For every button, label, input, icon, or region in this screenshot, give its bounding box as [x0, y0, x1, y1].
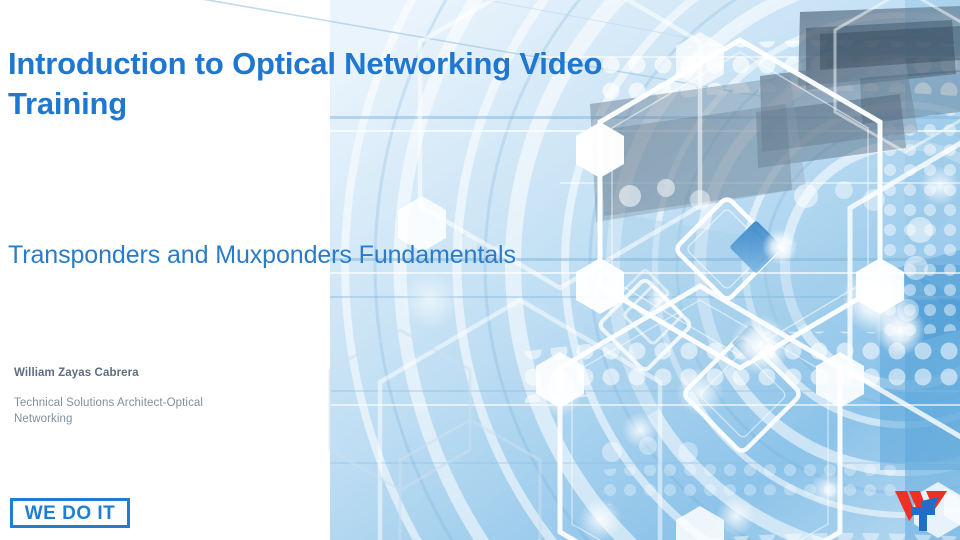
page-title: Introduction to Optical Networking Video…: [8, 44, 708, 124]
presenter-name: William Zayas Cabrera: [14, 365, 284, 381]
wt-logo: [893, 487, 949, 533]
presenter-block: William Zayas Cabrera Technical Solution…: [14, 365, 284, 427]
slide-subtitle: Transponders and Muxponders Fundamentals: [8, 240, 648, 270]
we-do-it-badge: WE DO IT: [10, 498, 130, 528]
presentation-slide: Introduction to Optical Networking Video…: [0, 0, 960, 540]
presenter-role: Technical Solutions Architect-Optical Ne…: [14, 395, 219, 427]
we-do-it-badge-label: WE DO IT: [13, 501, 127, 525]
